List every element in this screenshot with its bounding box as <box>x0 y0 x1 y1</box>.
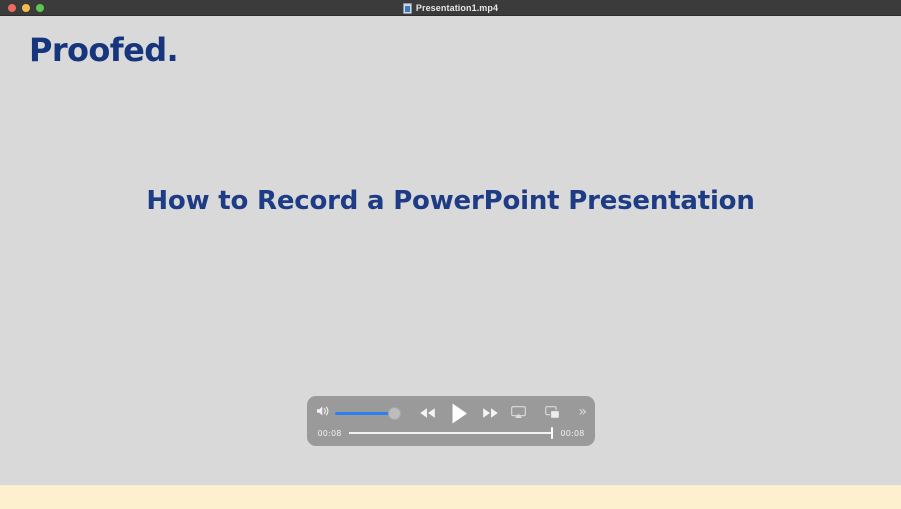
video-control-bar: » 00:08 00:08 <box>307 396 595 446</box>
fast-forward-icon[interactable] <box>482 407 499 419</box>
total-time-label: 00:08 <box>559 429 586 438</box>
current-time-label: 00:08 <box>316 429 343 438</box>
picture-in-picture-icon[interactable] <box>545 406 560 419</box>
transport-controls-group <box>419 400 499 426</box>
timeline-scrubber[interactable] <box>349 426 553 440</box>
slide-title-text: How to Record a PowerPoint Presentation <box>0 186 901 216</box>
maximize-window-button[interactable] <box>36 4 44 12</box>
titlebar-title-group: Presentation1.mp4 <box>0 0 901 16</box>
secondary-controls-group: » <box>511 404 587 420</box>
volume-control-group <box>316 404 397 422</box>
volume-slider-knob[interactable] <box>388 407 401 420</box>
close-window-button[interactable] <box>8 4 16 12</box>
more-options-chevron-icon[interactable]: » <box>578 405 587 419</box>
timeline-playhead[interactable] <box>551 427 553 439</box>
page-footer-band <box>0 485 901 509</box>
video-controls-top-row: » <box>307 396 595 428</box>
speaker-wave-icon[interactable] <box>316 404 330 422</box>
slide-canvas[interactable]: Proofed. How to Record a PowerPoint Pres… <box>0 17 901 485</box>
minimize-window-button[interactable] <box>22 4 30 12</box>
airplay-icon[interactable] <box>511 406 526 419</box>
footer-top-edge <box>0 485 901 486</box>
traffic-light-controls <box>8 0 44 16</box>
timeline-track <box>349 432 553 434</box>
rewind-icon[interactable] <box>419 407 436 419</box>
volume-slider-fill <box>335 412 393 415</box>
volume-slider[interactable] <box>335 406 397 420</box>
window-title-text: Presentation1.mp4 <box>416 3 498 13</box>
proofed-logo: Proofed. <box>29 34 178 66</box>
video-player-window: Presentation1.mp4 Proofed. How to Record… <box>0 0 901 509</box>
timeline-row: 00:08 00:08 <box>307 426 595 440</box>
window-titlebar: Presentation1.mp4 <box>0 0 901 16</box>
video-file-icon <box>403 3 412 14</box>
play-icon[interactable] <box>449 402 469 425</box>
